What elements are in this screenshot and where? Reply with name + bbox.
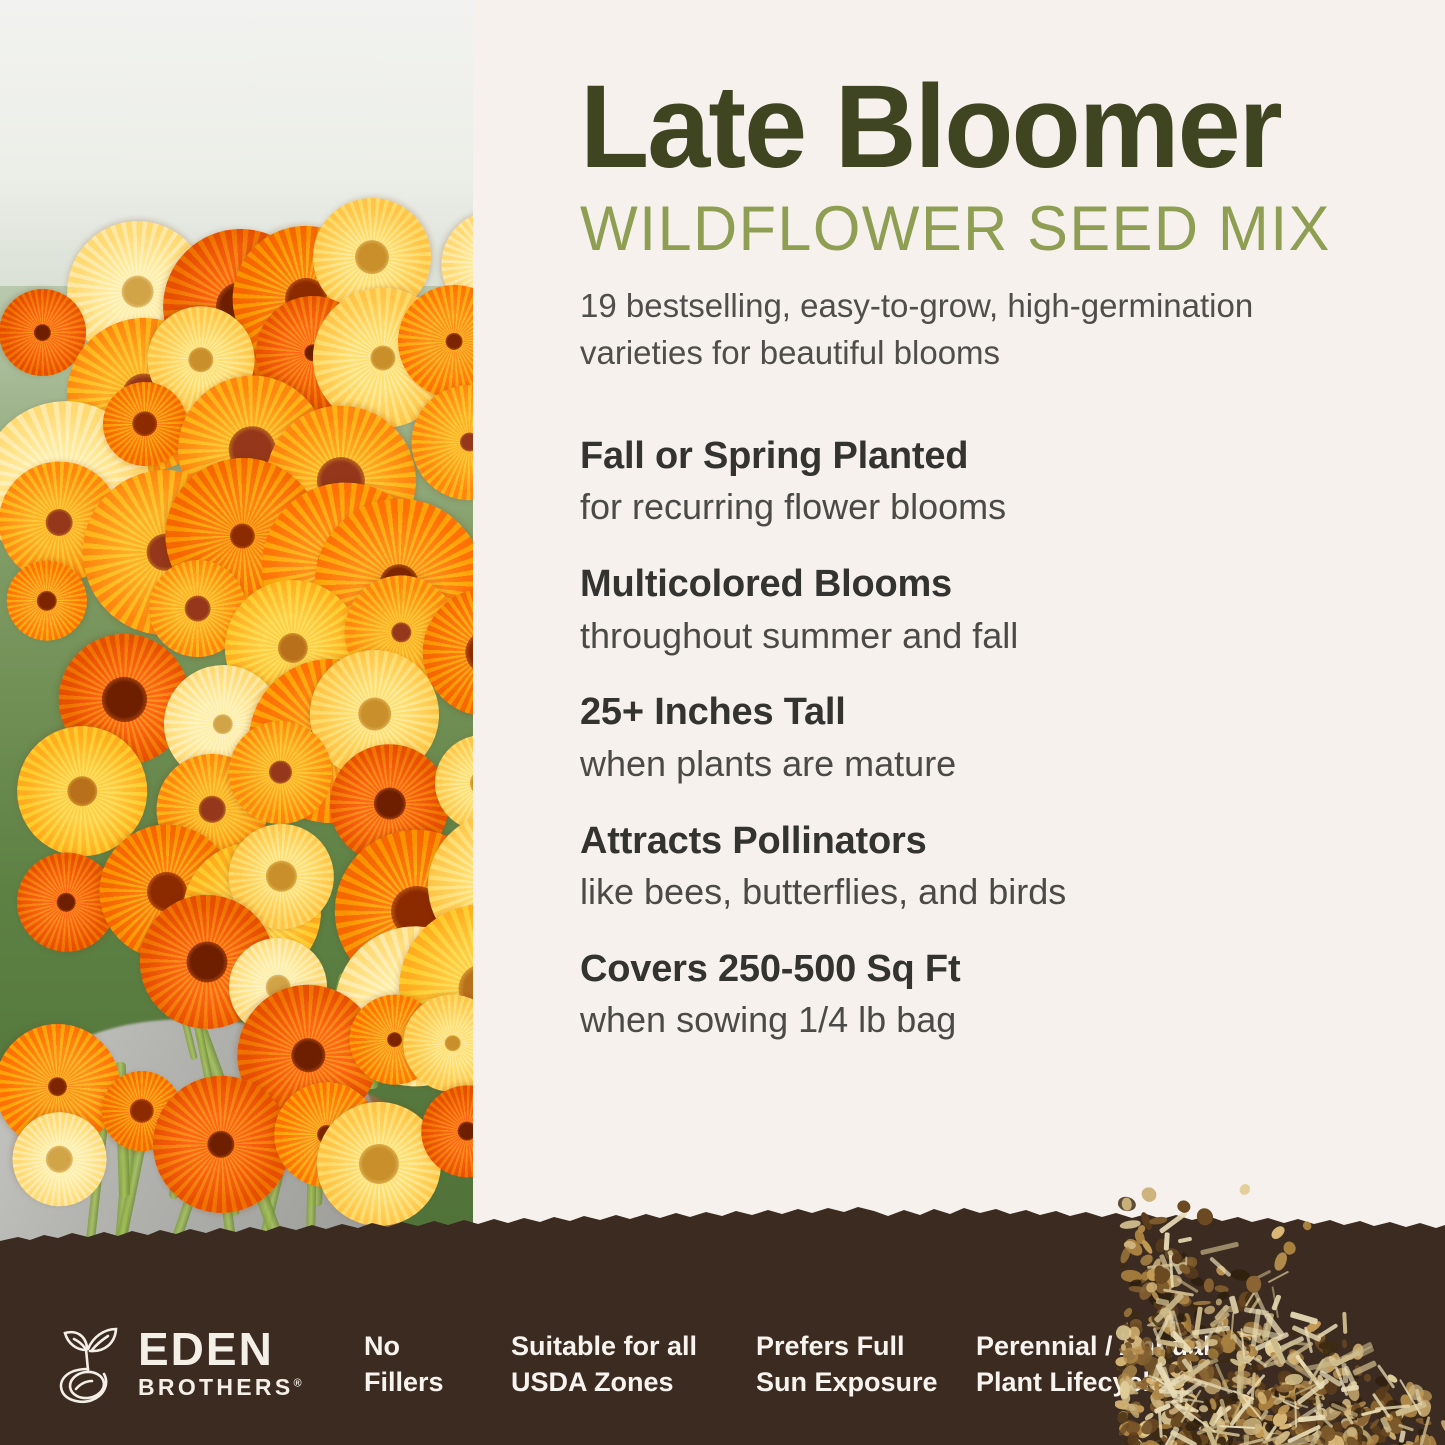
- badge-line2: USDA Zones: [511, 1364, 756, 1400]
- feature-heading: Attracts Pollinators: [580, 818, 1380, 866]
- content-column: Late Bloomer WILDFLOWER SEED MIX 19 best…: [580, 0, 1380, 1074]
- photo-flower-center: [131, 410, 158, 437]
- feature-detail: for recurring flower blooms: [580, 484, 1380, 531]
- feature-heading: Multicolored Blooms: [580, 561, 1380, 609]
- brand-name-line1: EDEN: [138, 1327, 302, 1371]
- photo-flower-center: [124, 1094, 158, 1128]
- badge-line2: Fillers: [364, 1364, 511, 1400]
- photo-flower-center: [46, 1075, 69, 1098]
- photo-flower-center: [385, 1031, 403, 1049]
- page-subtitle: WILDFLOWER SEED MIX: [580, 198, 1356, 261]
- product-photo: [0, 0, 473, 1300]
- brand-logo[interactable]: EDEN BROTHERS®: [52, 1323, 352, 1405]
- feature-detail: when sowing 1/4 lb bag: [580, 997, 1380, 1044]
- feature-detail: like bees, butterflies, and birds: [580, 869, 1380, 916]
- feature-item: Covers 250-500 Sq Ft when sowing 1/4 lb …: [580, 946, 1380, 1044]
- seed-particle-scattered: [1139, 1184, 1159, 1204]
- badge-line2: Plant Lifecycle: [976, 1364, 1236, 1400]
- photo-flower-center: [179, 591, 215, 627]
- photo-flower-center: [199, 795, 227, 823]
- feature-item: 25+ Inches Tall when plants are mature: [580, 689, 1380, 787]
- photo-flower-center: [65, 774, 99, 808]
- product-infographic: Late Bloomer WILDFLOWER SEED MIX 19 best…: [0, 0, 1445, 1445]
- photo-flower-center: [369, 784, 410, 825]
- photo-flower-center: [265, 757, 296, 788]
- feature-detail: throughout summer and fall: [580, 613, 1380, 660]
- photo-flower-center: [32, 587, 60, 615]
- photo-flower-center: [286, 1032, 331, 1077]
- photo-flower-center: [44, 507, 74, 537]
- feature-heading: Covers 250-500 Sq Ft: [580, 946, 1380, 994]
- page-title: Late Bloomer: [580, 68, 1348, 186]
- photo-flower-center: [367, 342, 400, 375]
- photo-flower-center: [202, 1125, 240, 1163]
- feature-item: Multicolored Blooms throughout summer an…: [580, 561, 1380, 659]
- photo-flower-center: [181, 937, 233, 989]
- brand-name-line2: BROTHERS®: [138, 1375, 302, 1400]
- badge-line1: Suitable for all: [511, 1328, 756, 1364]
- brand-wordmark: EDEN BROTHERS®: [138, 1327, 302, 1400]
- photo-flower-center: [467, 767, 473, 799]
- feature-heading: 25+ Inches Tall: [580, 689, 1380, 737]
- photo-flower-center: [230, 523, 256, 549]
- photo-flower-center: [352, 1136, 406, 1190]
- feature-item: Attracts Pollinators like bees, butterfl…: [580, 818, 1380, 916]
- seedling-sprout-icon: [52, 1323, 124, 1405]
- photo-flower-center: [41, 1140, 78, 1177]
- badge-line1: No: [364, 1328, 511, 1364]
- photo-flower-center: [275, 630, 312, 667]
- footer-content: EDEN BROTHERS® No Fillers Suitable for a…: [0, 1283, 1445, 1445]
- photo-flower-center: [94, 669, 153, 728]
- badge-usda-zones: Suitable for all USDA Zones: [511, 1328, 756, 1401]
- brand-name-line2-text: BROTHERS: [138, 1374, 293, 1400]
- photo-flower-center: [210, 711, 236, 737]
- photo-flower-center: [120, 274, 156, 310]
- photo-flower-center: [262, 858, 300, 896]
- photo-flower-center: [348, 234, 395, 281]
- feature-list: Fall or Spring Planted for recurring flo…: [580, 433, 1380, 1044]
- photo-flower-center: [441, 1032, 464, 1055]
- photo-flower-center: [457, 622, 473, 681]
- feature-item: Fall or Spring Planted for recurring flo…: [580, 433, 1380, 531]
- photo-flower-center: [443, 330, 466, 353]
- photo-flower-center: [55, 890, 79, 914]
- badge-line1: Prefers Full: [756, 1328, 976, 1364]
- badge-list: No Fillers Suitable for all USDA Zones P…: [352, 1328, 1445, 1401]
- photo-flower-center: [31, 321, 54, 344]
- badge-no-fillers: No Fillers: [364, 1328, 511, 1401]
- photo-flower-center: [457, 430, 473, 454]
- badge-plant-lifecycle: Perennial / Annual Plant Lifecycle: [976, 1328, 1236, 1401]
- footer-bar: EDEN BROTHERS® No Fillers Suitable for a…: [0, 1245, 1445, 1445]
- badge-line2: Sun Exposure: [756, 1364, 976, 1400]
- photo-flower-center: [456, 1120, 473, 1143]
- registered-mark: ®: [293, 1378, 301, 1390]
- torn-paper-edge-icon: [0, 1207, 1445, 1267]
- photo-flower-center: [389, 620, 414, 645]
- seed-particle-scattered: [1238, 1182, 1253, 1197]
- photo-flower-center: [184, 342, 218, 376]
- badge-sun-exposure: Prefers Full Sun Exposure: [756, 1328, 976, 1401]
- badge-line1: Perennial / Annual: [976, 1328, 1236, 1364]
- feature-heading: Fall or Spring Planted: [580, 433, 1380, 481]
- page-description: 19 bestselling, easy-to-grow, high-germi…: [580, 283, 1320, 377]
- photo-flower-center: [354, 693, 395, 734]
- feature-detail: when plants are mature: [580, 741, 1380, 788]
